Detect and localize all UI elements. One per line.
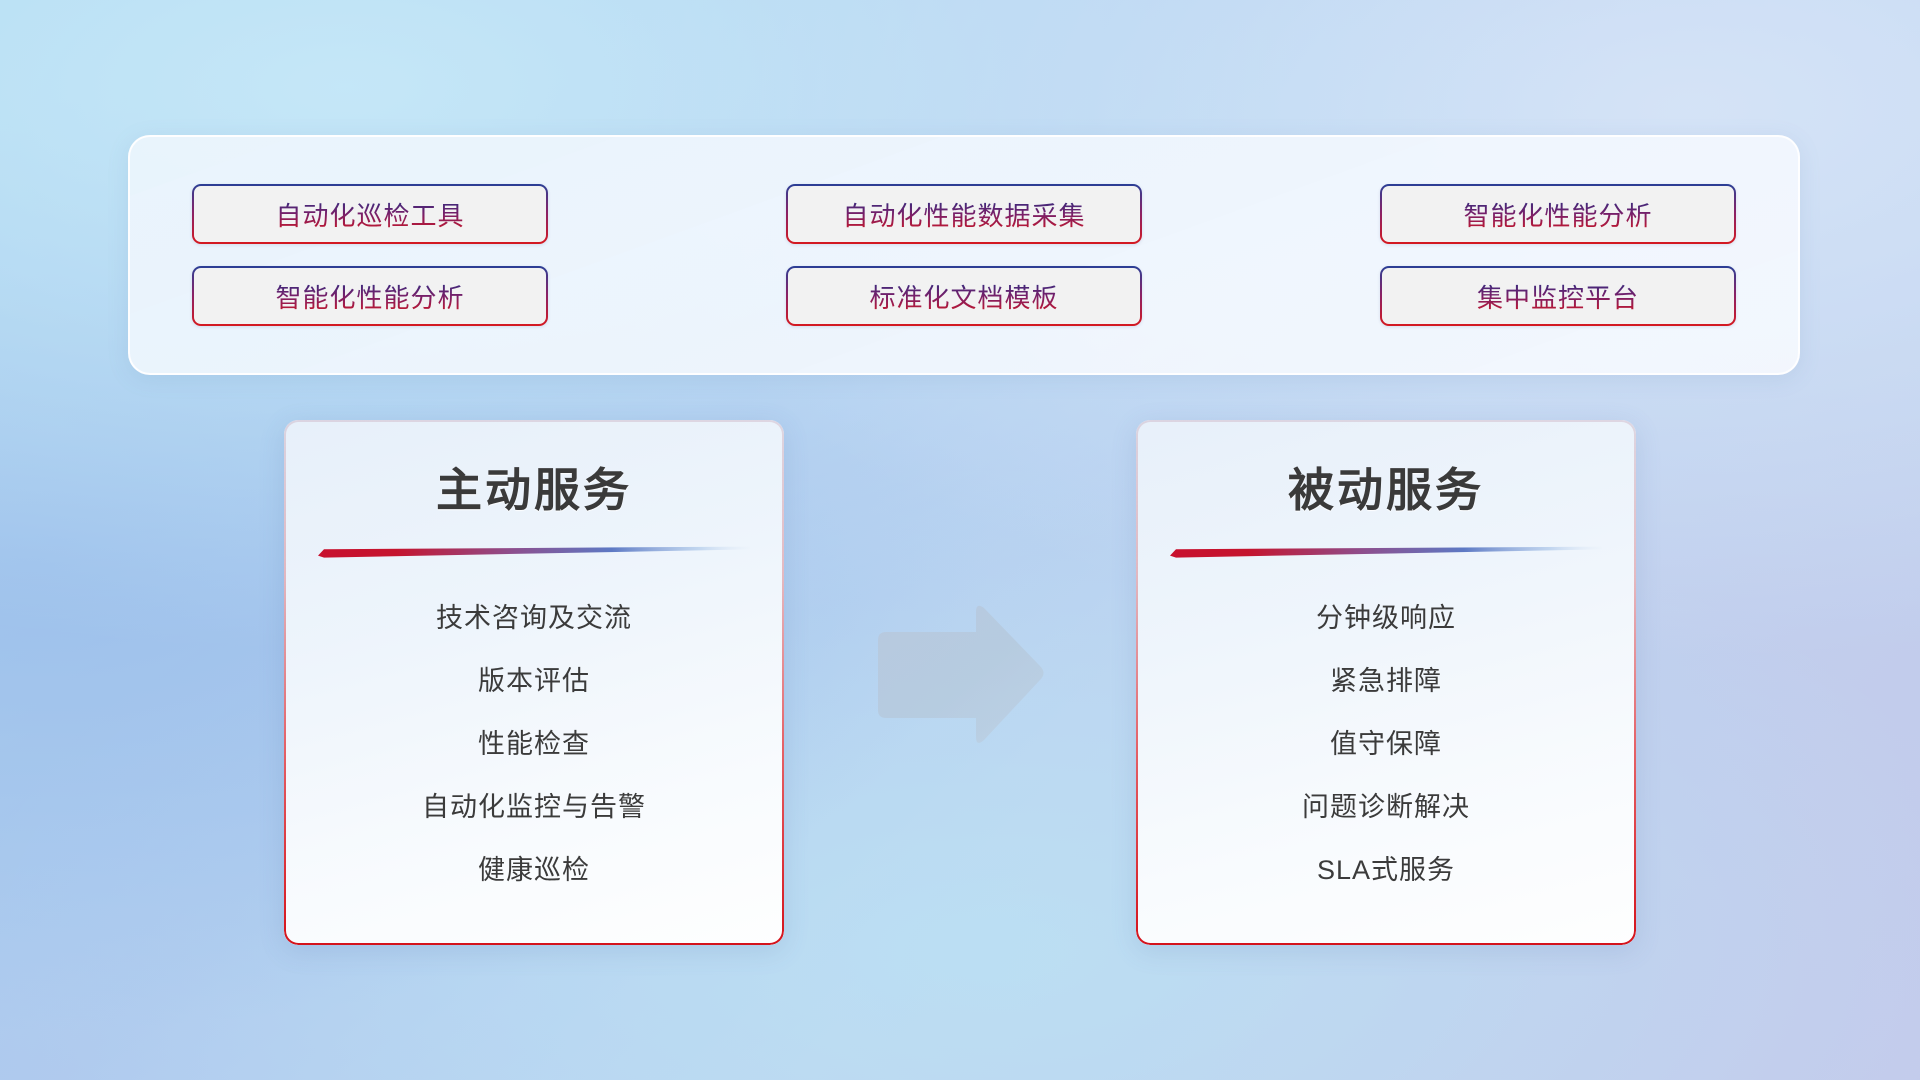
capability-pill-4[interactable]: 智能化性能分析 (192, 266, 548, 326)
capability-pill-1-label: 自动化巡检工具 (275, 196, 464, 233)
capability-pill-2-label: 自动化性能数据采集 (842, 196, 1085, 233)
list-item: 技术咨询及交流 (436, 596, 632, 635)
capability-row-2: 智能化性能分析 标准化文档模板 集中监控平台 (192, 266, 1736, 326)
capability-pill-3-label: 智能化性能分析 (1463, 196, 1652, 233)
arrow-right-icon (872, 600, 1048, 750)
service-card-passive[interactable]: 被动服务 分钟级响应 紧急排障 值守保障 (1136, 420, 1636, 945)
list-item: 自动化监控与告警 (422, 785, 646, 824)
slide-canvas: 自动化巡检工具 自动化性能数据采集 智能化性能分析 智能化性能分析 (0, 0, 1920, 1080)
capability-pill-1[interactable]: 自动化巡检工具 (192, 184, 548, 244)
list-item: 紧急排障 (1330, 659, 1442, 698)
list-item: 健康巡检 (478, 848, 590, 887)
list-item: 值守保障 (1330, 722, 1442, 761)
service-card-active[interactable]: 主动服务 技术咨询及交流 版本评估 性能检查 (284, 420, 784, 945)
capability-pill-4-label: 智能化性能分析 (275, 278, 464, 315)
list-item: 版本评估 (478, 659, 590, 698)
capability-panel: 自动化巡检工具 自动化性能数据采集 智能化性能分析 智能化性能分析 (128, 135, 1800, 375)
capability-pill-6-label: 集中监控平台 (1477, 278, 1639, 315)
capability-row-1: 自动化巡检工具 自动化性能数据采集 智能化性能分析 (192, 184, 1736, 244)
capability-pill-2[interactable]: 自动化性能数据采集 (786, 184, 1142, 244)
list-item: 问题诊断解决 (1302, 785, 1470, 824)
capability-pill-2-inner: 自动化性能数据采集 (788, 186, 1140, 242)
service-card-active-list: 技术咨询及交流 版本评估 性能检查 自动化监控与告警 健康巡检 (284, 596, 784, 887)
capability-pill-6[interactable]: 集中监控平台 (1380, 266, 1736, 326)
capability-pill-5[interactable]: 标准化文档模板 (786, 266, 1142, 326)
capability-pill-1-inner: 自动化巡检工具 (194, 186, 546, 242)
service-card-active-title: 主动服务 (284, 454, 784, 520)
service-card-passive-list: 分钟级响应 紧急排障 值守保障 问题诊断解决 SLA式服务 (1136, 596, 1636, 887)
service-card-active-divider (318, 546, 750, 558)
capability-pill-6-inner: 集中监控平台 (1382, 268, 1734, 324)
capability-pill-4-inner: 智能化性能分析 (194, 268, 546, 324)
capability-pill-3[interactable]: 智能化性能分析 (1380, 184, 1736, 244)
list-item: 分钟级响应 (1316, 596, 1456, 635)
capability-pill-5-label: 标准化文档模板 (869, 278, 1058, 315)
list-item: 性能检查 (478, 722, 590, 761)
service-card-passive-title: 被动服务 (1136, 454, 1636, 520)
service-card-passive-divider (1170, 546, 1602, 558)
capability-pill-5-inner: 标准化文档模板 (788, 268, 1140, 324)
list-item: SLA式服务 (1317, 848, 1455, 887)
capability-pill-3-inner: 智能化性能分析 (1382, 186, 1734, 242)
